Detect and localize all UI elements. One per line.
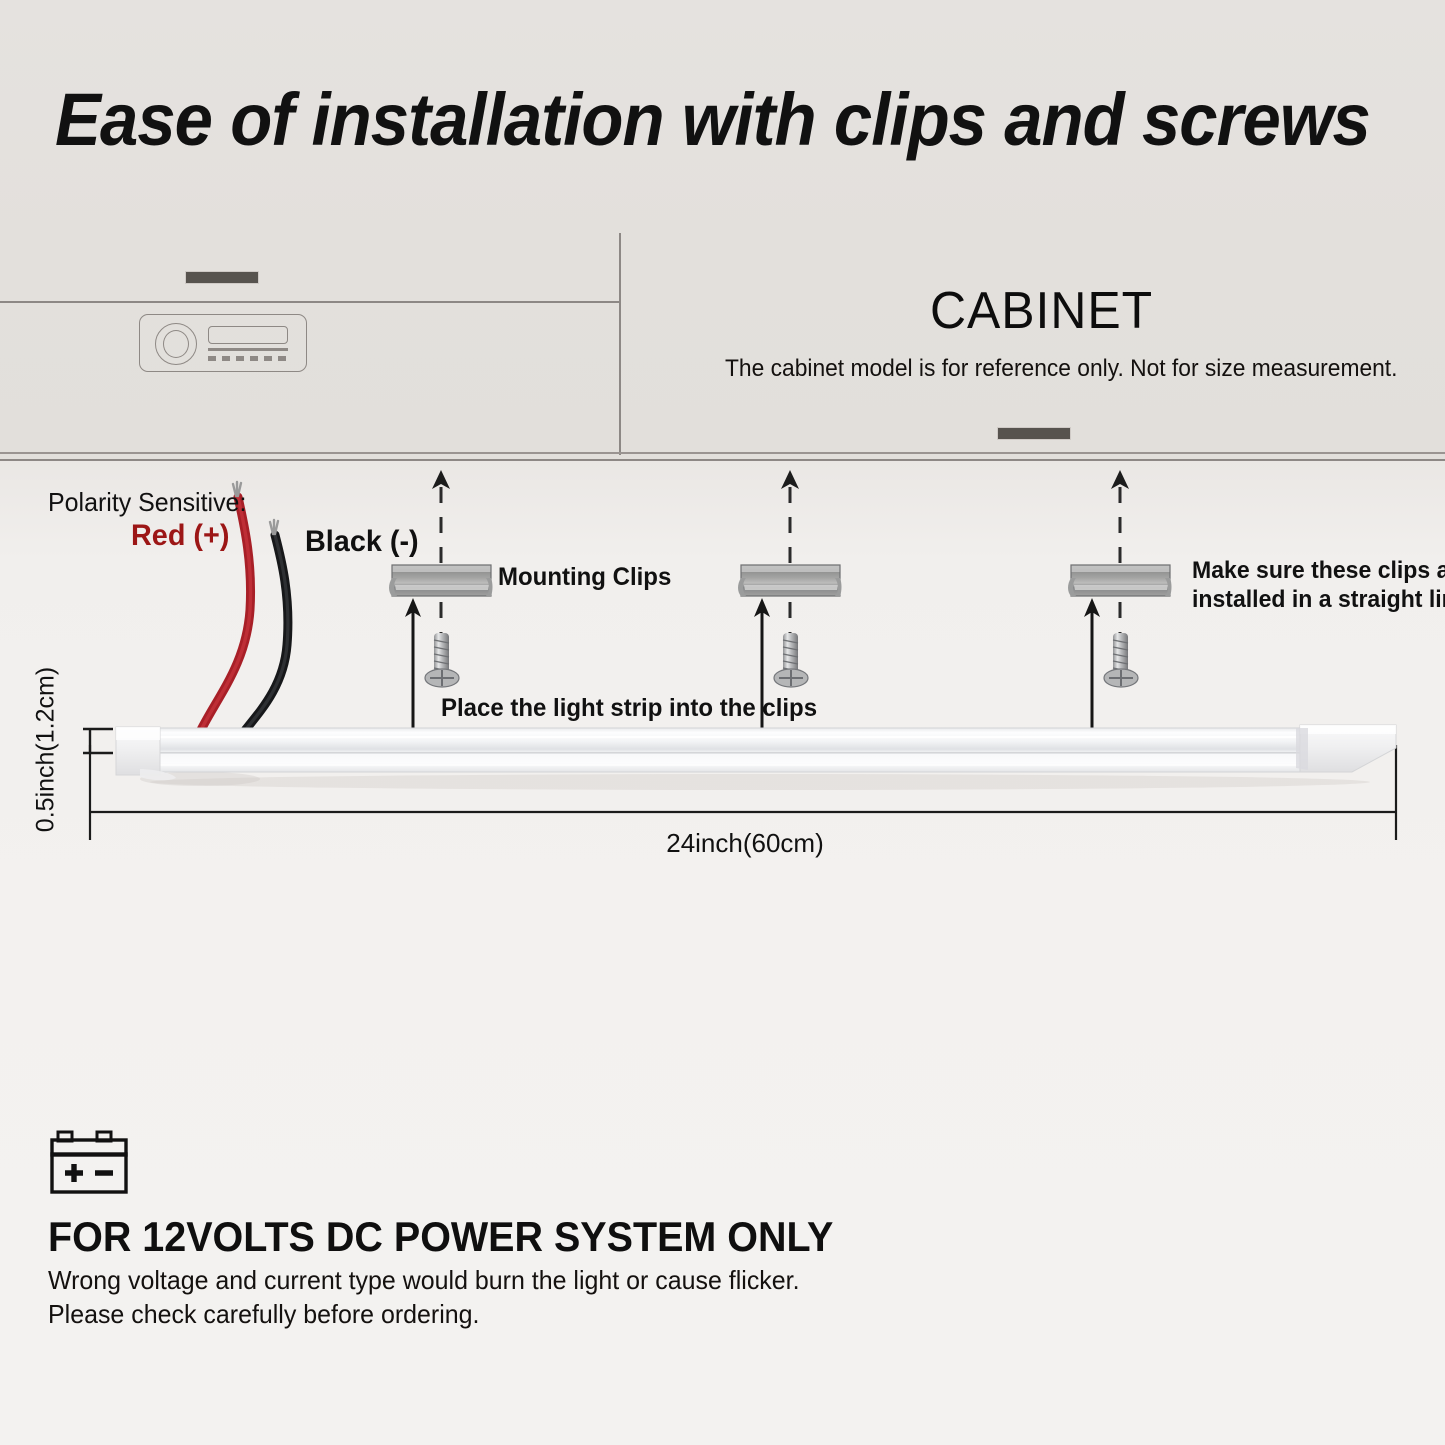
infographic-canvas: Ease of installation with clips and scre… (0, 0, 1445, 1445)
battery-icon (50, 1128, 128, 1196)
power-notice-body: Wrong voltage and current type would bur… (48, 1263, 800, 1331)
power-notice-line1: Wrong voltage and current type would bur… (48, 1263, 800, 1297)
power-notice-heading: FOR 12VOLTS DC POWER SYSTEM ONLY (48, 1213, 833, 1261)
height-dimension-label: 0.5inch(1.2cm) (32, 660, 61, 840)
length-dimension-label: 24inch(60cm) (520, 828, 970, 859)
power-notice-line2: Please check carefully before ordering. (48, 1297, 800, 1331)
